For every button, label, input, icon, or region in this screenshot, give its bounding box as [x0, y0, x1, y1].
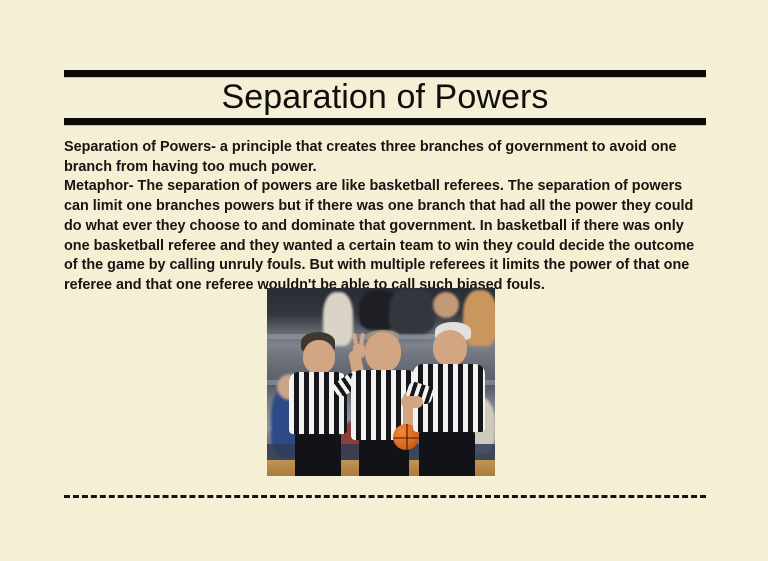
slide-canvas: Separation of Powers Separation of Power… — [0, 0, 768, 561]
title-rule-bottom — [64, 118, 706, 125]
referees-photo — [267, 288, 495, 476]
referee-head — [433, 330, 467, 366]
dashed-divider — [64, 495, 706, 498]
referee-head — [365, 332, 401, 372]
referee-arm — [401, 396, 423, 408]
title-rule-top — [64, 70, 706, 77]
definition-paragraph: Separation of Powers- a principle that c… — [64, 138, 709, 177]
metaphor-paragraph: Metaphor- The separation of powers are l… — [64, 177, 709, 295]
title-block: Separation of Powers — [64, 70, 706, 125]
referee-head — [303, 340, 335, 374]
referee-right — [407, 322, 495, 476]
referees-photo-content — [267, 288, 495, 476]
body-copy: Separation of Powers- a principle that c… — [64, 138, 709, 296]
page-title: Separation of Powers — [64, 77, 706, 118]
spectator — [433, 292, 459, 318]
referee-pants — [419, 430, 475, 476]
referee-pants — [295, 432, 341, 476]
